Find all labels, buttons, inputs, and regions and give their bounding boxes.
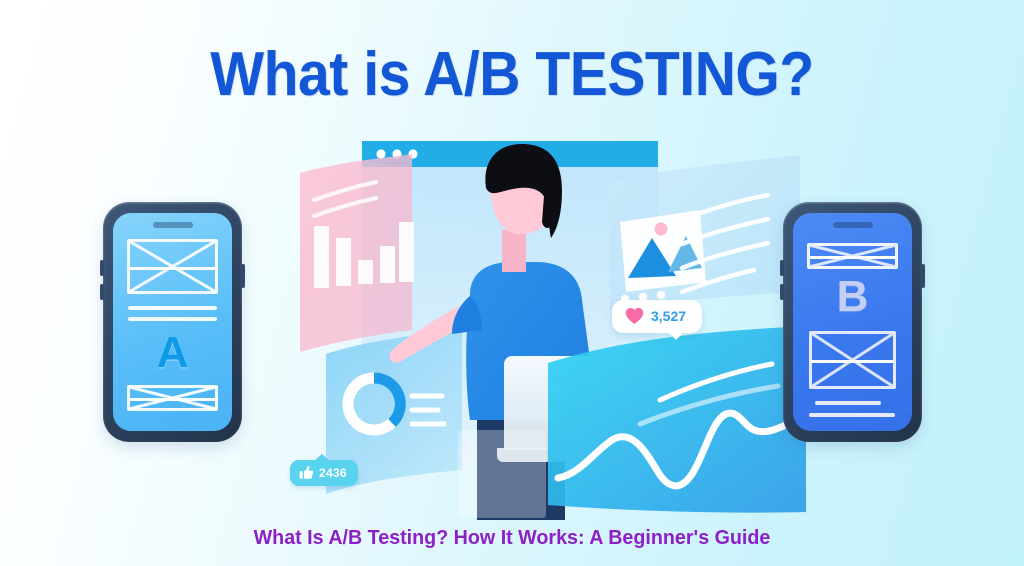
phone-screen-b: B <box>793 213 912 431</box>
phone-button-power <box>100 284 104 300</box>
heart-icon <box>625 307 644 325</box>
wireframe-image-box <box>809 331 896 389</box>
wireframe-image-box-flat <box>127 385 218 411</box>
heart-count: 3,527 <box>651 308 686 324</box>
phone-variant-b[interactable]: B <box>783 202 922 442</box>
wireframe-text-line <box>815 401 881 405</box>
photo-placeholder-icon <box>620 210 706 292</box>
wireframe-image-box <box>127 239 218 294</box>
wireframe-text-line <box>128 306 217 310</box>
browser-dot-icon <box>376 149 385 158</box>
wireframe-image-box-flat <box>807 243 898 269</box>
wireframe-text-line <box>809 413 895 417</box>
variant-letter-a: A <box>113 331 232 375</box>
phone-variant-a[interactable]: A <box>103 202 242 442</box>
heart-badge[interactable]: 3,527 <box>612 300 702 333</box>
photo-card-panel <box>610 155 800 310</box>
page-caption: What Is A/B Testing? How It Works: A Beg… <box>20 526 1003 550</box>
phone-screen-a: A <box>113 213 232 431</box>
page-title: What is A/B TESTING? <box>41 44 983 106</box>
phone-notch <box>153 222 193 228</box>
phone-button-volume <box>100 260 104 276</box>
dot-icon <box>657 291 665 299</box>
phone-button-side <box>921 264 925 288</box>
phone-button-power <box>780 284 784 300</box>
phone-button-side <box>241 264 245 288</box>
phone-button-volume <box>780 260 784 276</box>
bar-chart-panel <box>300 154 414 352</box>
phone-notch <box>833 222 873 228</box>
wireframe-text-line <box>128 317 217 321</box>
variant-letter-b: B <box>793 275 912 319</box>
like-count: 2436 <box>319 466 347 480</box>
like-badge[interactable]: 2436 <box>290 460 358 486</box>
ab-testing-infographic: What is A/B TESTING? A <box>0 0 1024 566</box>
thumbs-up-icon <box>299 465 314 480</box>
wave-chart-panel <box>548 326 806 513</box>
floating-card <box>458 430 546 518</box>
